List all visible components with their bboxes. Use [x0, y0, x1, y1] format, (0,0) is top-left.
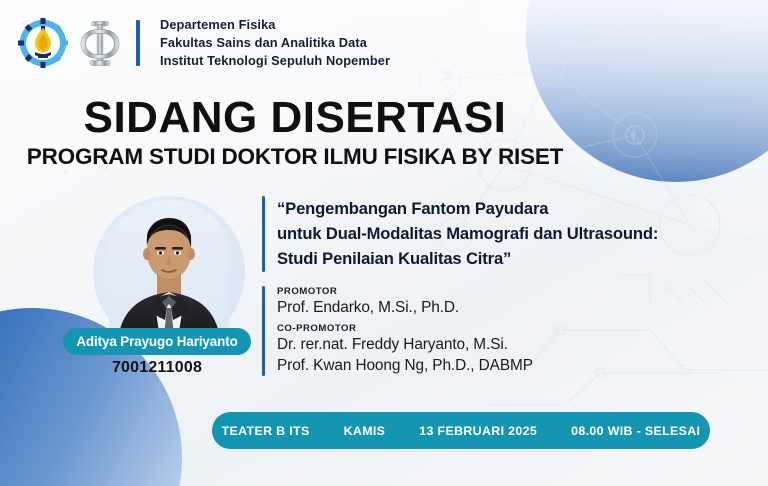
- thesis-line-2: untuk Dual-Modalitas Mamografi dan Ultra…: [277, 221, 658, 246]
- institute-line: Institut Teknologi Sepuluh Nopember: [160, 52, 390, 70]
- faculty-line: Fakultas Sains dan Analitika Data: [160, 34, 390, 52]
- page-title: SIDANG DISERTASI: [0, 96, 590, 140]
- thesis-accent-bar: [262, 196, 265, 272]
- event-info-bar: TEATER B ITS KAMIS 13 FEBRUARI 2025 08.0…: [212, 412, 710, 449]
- thesis-title-block: “Pengembangan Fantom Payudara untuk Dual…: [262, 196, 658, 272]
- candidate-photo: [93, 196, 245, 348]
- copromotor-name-2: Prof. Kwan Hoong Ng, Ph.D., DABMP: [277, 356, 533, 376]
- thesis-title-text: “Pengembangan Fantom Payudara untuk Dual…: [277, 196, 658, 272]
- physics-phi-logo-icon: [78, 18, 122, 68]
- department-line: Departemen Fisika: [160, 16, 390, 34]
- page-subtitle: PROGRAM STUDI DOKTOR ILMU FISIKA BY RISE…: [0, 146, 590, 169]
- event-venue: TEATER B ITS: [205, 424, 327, 438]
- copromotor-name-1: Dr. rer.nat. Freddy Haryanto, M.Si.: [277, 335, 533, 355]
- its-logo-icon: [18, 18, 68, 68]
- institution-header: Departemen Fisika Fakultas Sains dan Ana…: [18, 16, 390, 70]
- event-day: KAMIS: [327, 424, 403, 438]
- event-date: 13 FEBRUARI 2025: [402, 424, 554, 438]
- candidate-name-badge: Aditya Prayugo Hariyanto: [63, 328, 251, 355]
- promotor-name: Prof. Endarko, M.Si., Ph.D.: [277, 298, 533, 318]
- portrait-image: [109, 200, 229, 344]
- institution-name-block: Departemen Fisika Fakultas Sains dan Ana…: [160, 16, 390, 70]
- copromotor-label: CO-PROMOTOR: [277, 323, 533, 335]
- event-time: 08.00 WIB - SELESAI: [554, 424, 717, 438]
- candidate-nim: 7001211008: [63, 359, 251, 377]
- advisors-block: PROMOTOR Prof. Endarko, M.Si., Ph.D. CO-…: [262, 286, 533, 376]
- header-divider: [136, 20, 140, 66]
- poster-canvas: Departemen Fisika Fakultas Sains dan Ana…: [0, 0, 768, 486]
- thesis-line-1: “Pengembangan Fantom Payudara: [277, 196, 658, 221]
- promotor-label: PROMOTOR: [277, 286, 533, 298]
- advisors-accent-bar: [262, 286, 265, 376]
- thesis-line-3: Studi Penilaian Kualitas Citra”: [277, 246, 658, 271]
